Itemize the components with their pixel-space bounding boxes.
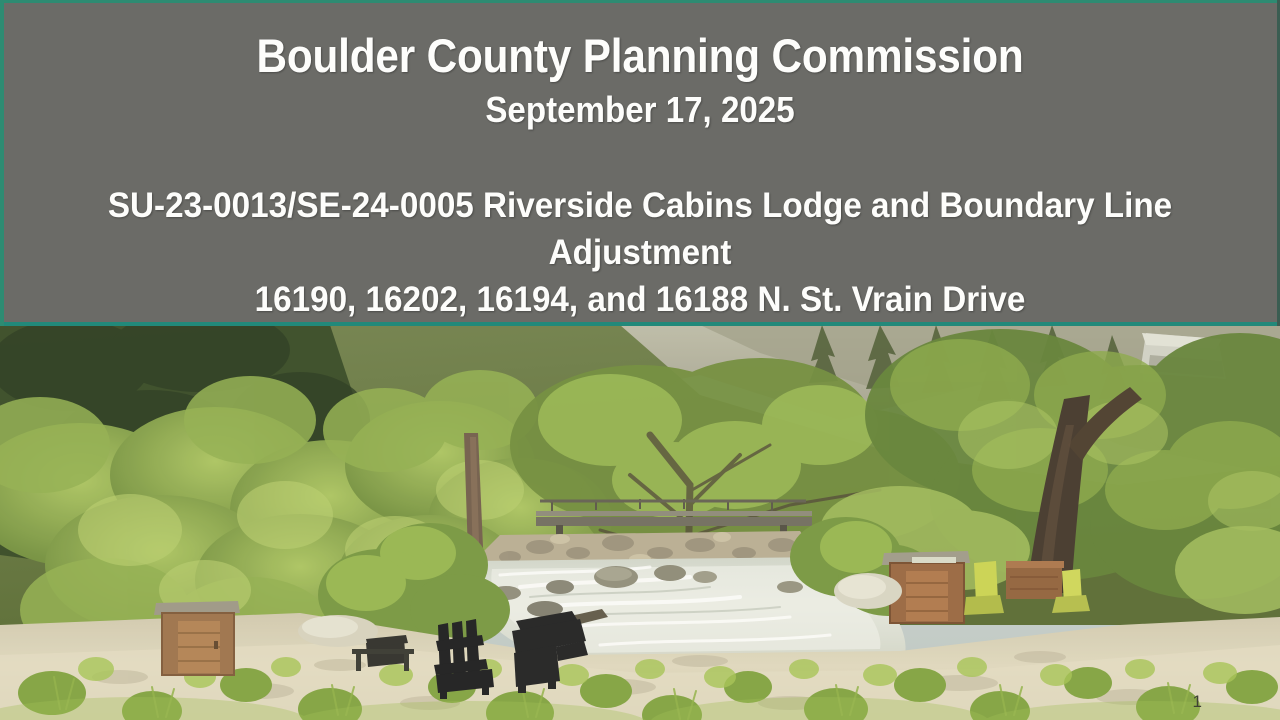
slide-photo: [0, 325, 1280, 720]
meeting-date: September 17, 2025: [51, 92, 1229, 128]
page-title: Boulder County Planning Commission: [64, 32, 1216, 79]
case-reference-block: SU-23-0013/SE-24-0005 Riverside Cabins L…: [50, 182, 1230, 323]
case-title-continuation: Adjustment: [80, 229, 1201, 276]
slide-border-top: [0, 0, 1280, 3]
page-number: 1: [1193, 692, 1202, 712]
presentation-slide: Boulder County Planning Commission Septe…: [0, 0, 1280, 720]
slide-title-band: Boulder County Planning Commission Septe…: [0, 0, 1280, 326]
canyon-creek-photo-illustration: [0, 325, 1280, 720]
slide-border-left: [0, 0, 4, 326]
site-address-line: 16190, 16202, 16194, and 16188 N. St. Vr…: [80, 276, 1201, 323]
header-accent-rule: [0, 322, 1280, 326]
case-number-line: SU-23-0013/SE-24-0005 Riverside Cabins L…: [80, 182, 1201, 229]
